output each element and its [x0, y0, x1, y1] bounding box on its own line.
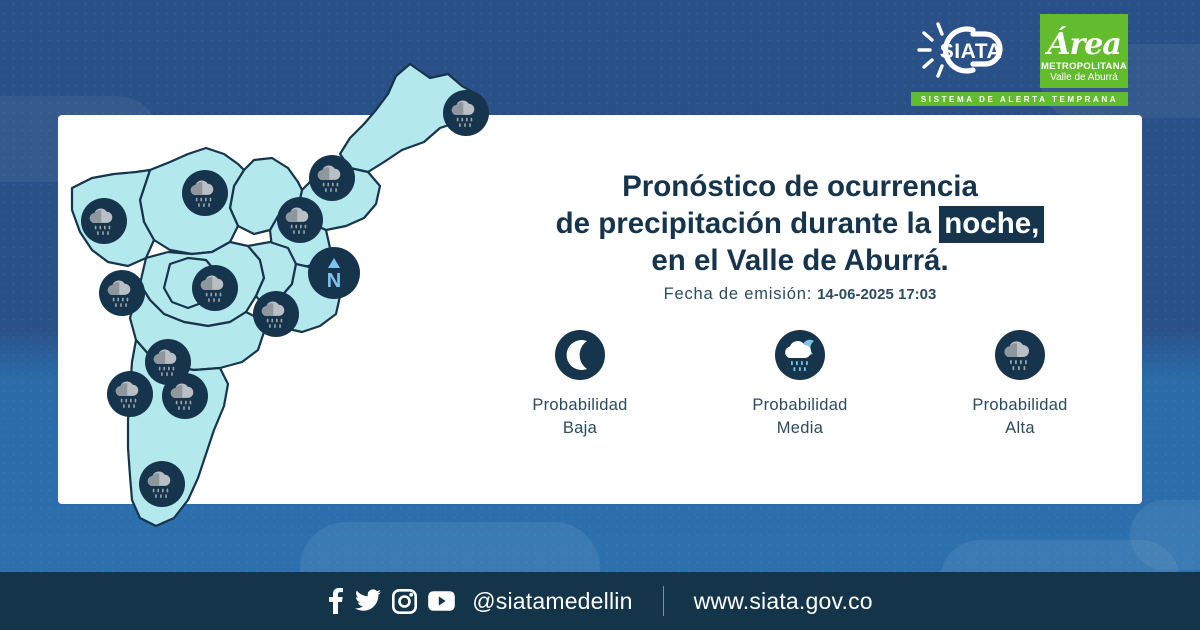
footer-divider	[663, 586, 664, 616]
headline-line-2-text: de precipitación durante la	[556, 207, 940, 240]
page-title: Pronóstico de ocurrencia de precipitació…	[470, 168, 1130, 279]
legend-label-media: Probabilidad Media	[752, 394, 847, 440]
compass-rose: N	[308, 247, 360, 299]
area-logo-script: Área	[1047, 30, 1121, 60]
rain-cloud-icon	[277, 197, 323, 243]
rain-cloud-icon	[99, 270, 145, 316]
probability-legend: Probabilidad Baja Probabi	[470, 330, 1130, 440]
svg-text:N: N	[327, 270, 341, 292]
instagram-icon[interactable]	[392, 589, 417, 614]
website-url[interactable]: www.siata.gov.co	[694, 588, 873, 615]
legend-alta-line2: Alta	[972, 417, 1067, 440]
headline-line-3: en el Valle de Aburrá.	[470, 242, 1130, 279]
rain-cloud-icon	[81, 198, 127, 244]
social-handle[interactable]: @siatamedellin	[472, 588, 632, 615]
rain-cloud-icon	[192, 265, 238, 311]
legend-label-alta: Probabilidad Alta	[972, 394, 1067, 440]
headline-line-1: Pronóstico de ocurrencia	[470, 168, 1130, 205]
rain-cloud-icon	[253, 291, 299, 337]
map-marker-barbosa[interactable]	[443, 90, 489, 136]
moon-icon	[555, 330, 605, 380]
area-logo-valle: Valle de Aburrá	[1050, 72, 1118, 84]
map-marker-medellin[interactable]	[192, 265, 238, 311]
area-logo-metropolitana: METROPOLITANA	[1041, 61, 1127, 72]
issue-date-value: 14-06-2025 17:03	[817, 286, 936, 303]
north-arrow-icon: N	[308, 247, 360, 299]
headline-highlight: noche,	[939, 206, 1044, 243]
map-marker-caldas[interactable]	[139, 461, 185, 507]
legend-baja-line1: Probabilidad	[532, 394, 627, 417]
siata-logo: SIATA	[911, 14, 1031, 86]
background-cloud-bottom-3	[1130, 500, 1200, 570]
rain-cloud-icon	[107, 371, 153, 417]
area-metropolitana-logo: Área METROPOLITANA Valle de Aburrá	[1040, 14, 1128, 88]
rain-cloud-icon	[995, 330, 1045, 380]
legend-media-line1: Probabilidad	[752, 394, 847, 417]
sun-cloud-icon: SIATA	[911, 14, 1031, 86]
map-marker-la-estrella[interactable]	[107, 371, 153, 417]
legend-item-baja: Probabilidad Baja	[470, 330, 690, 440]
issue-date-label: Fecha de emisión:	[664, 285, 812, 303]
rain-cloud-icon	[309, 155, 355, 201]
rain-cloud-icon	[182, 170, 228, 216]
headline-line-2: de precipitación durante la noche,	[470, 205, 1130, 242]
map-marker-bello[interactable]	[182, 170, 228, 216]
twitter-icon[interactable]	[355, 589, 381, 613]
map-marker-la-estrella-2[interactable]	[162, 373, 208, 419]
map-marker-envigado[interactable]	[99, 270, 145, 316]
map-marker-copacabana[interactable]	[277, 197, 323, 243]
legend-baja-line2: Baja	[532, 417, 627, 440]
rain-cloud-icon	[162, 373, 208, 419]
map-marker-san-pedro[interactable]	[81, 198, 127, 244]
legend-label-baja: Probabilidad Baja	[532, 394, 627, 440]
legend-item-media: Probabilidad Media	[690, 330, 910, 440]
moon-rain-cloud-icon	[775, 330, 825, 380]
youtube-icon[interactable]	[428, 591, 455, 611]
svg-text:SIATA: SIATA	[940, 40, 1002, 63]
legend-alta-line1: Probabilidad	[972, 394, 1067, 417]
footer-bar: @siatamedellin www.siata.gov.co	[0, 572, 1200, 630]
social-icons	[327, 588, 455, 614]
rain-cloud-icon	[443, 90, 489, 136]
map-marker-girardota[interactable]	[309, 155, 355, 201]
legend-item-alta: Probabilidad Alta	[910, 330, 1130, 440]
rain-cloud-icon	[139, 461, 185, 507]
logo-row: SIATA Área METROPOLITANA Valle de Aburrá	[911, 14, 1128, 88]
facebook-icon[interactable]	[327, 588, 344, 614]
valle-de-aburra-map: N	[58, 50, 478, 570]
issue-date: Fecha de emisión:14-06-2025 17:03	[470, 285, 1130, 304]
legend-media-line2: Media	[752, 417, 847, 440]
map-marker-itagui[interactable]	[253, 291, 299, 337]
tagline-bar: SISTEMA DE ALERTA TEMPRANA	[911, 92, 1128, 106]
